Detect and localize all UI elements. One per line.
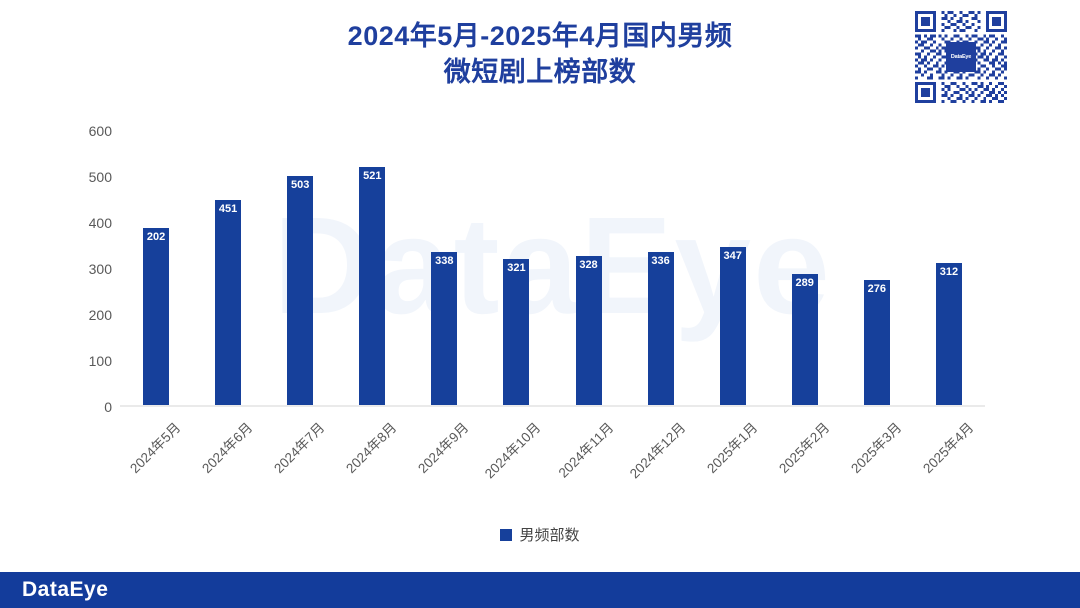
bar[interactable]: 289 bbox=[792, 274, 818, 407]
bar-slot: 328 bbox=[552, 131, 624, 407]
bar-slot: 321 bbox=[480, 131, 552, 407]
bar-slot: 338 bbox=[408, 131, 480, 407]
y-axis-tick: 0 bbox=[104, 399, 112, 415]
x-axis-label: 2024年12月 bbox=[624, 417, 689, 482]
bar[interactable]: 503 bbox=[287, 176, 313, 407]
y-axis-tick: 600 bbox=[89, 123, 112, 139]
bar[interactable]: 347 bbox=[720, 247, 746, 407]
bar-slot: 347 bbox=[697, 131, 769, 407]
x-axis-label: 2024年5月 bbox=[124, 417, 184, 477]
x-axis: 2024年5月2024年6月2024年7月2024年8月2024年9月2024年… bbox=[120, 411, 985, 511]
bar[interactable]: 521 bbox=[359, 167, 385, 407]
bar[interactable]: 202 bbox=[143, 228, 169, 407]
footer-bar: DataEye bbox=[0, 572, 1080, 608]
bar-value-label: 338 bbox=[435, 255, 453, 267]
legend-swatch bbox=[500, 529, 512, 541]
bar-slot: 336 bbox=[625, 131, 697, 407]
bar-value-label: 202 bbox=[147, 231, 165, 243]
x-axis-label: 2025年2月 bbox=[773, 417, 833, 477]
bar-slot: 202 bbox=[120, 131, 192, 407]
bar-slot: 503 bbox=[264, 131, 336, 407]
chart-title: 2024年5月-2025年4月国内男频 微短剧上榜部数 bbox=[170, 18, 910, 90]
y-axis-tick: 100 bbox=[89, 353, 112, 369]
bar-value-label: 328 bbox=[579, 259, 597, 271]
x-axis-label: 2024年10月 bbox=[479, 417, 544, 482]
bar-series: 202451503521338321328336347289276312 bbox=[120, 131, 985, 407]
bar[interactable]: 312 bbox=[936, 263, 962, 407]
y-axis-tick: 200 bbox=[89, 307, 112, 323]
bar[interactable]: 338 bbox=[431, 252, 457, 407]
bar[interactable]: 328 bbox=[576, 256, 602, 407]
plot-area: DataEye 20245150352133832132833634728927… bbox=[120, 131, 985, 407]
x-axis-baseline bbox=[120, 405, 985, 407]
qr-code[interactable]: DataEye bbox=[912, 8, 1010, 106]
bar-value-label: 503 bbox=[291, 179, 309, 191]
bar-slot: 521 bbox=[336, 131, 408, 407]
chart-legend: 男频部数 bbox=[0, 524, 1080, 545]
bar[interactable]: 336 bbox=[648, 252, 674, 407]
bar[interactable]: 321 bbox=[503, 259, 529, 407]
bar-value-label: 276 bbox=[868, 283, 886, 295]
bar-value-label: 336 bbox=[651, 255, 669, 267]
y-axis-tick: 300 bbox=[89, 261, 112, 277]
bar-value-label: 289 bbox=[796, 277, 814, 289]
bar[interactable]: 451 bbox=[215, 200, 241, 407]
y-axis: 0100200300400500600 bbox=[60, 124, 112, 414]
bar-slot: 451 bbox=[192, 131, 264, 407]
bar-value-label: 347 bbox=[723, 250, 741, 262]
bar-slot: 312 bbox=[913, 131, 985, 407]
y-axis-tick: 400 bbox=[89, 215, 112, 231]
x-axis-label: 2025年4月 bbox=[917, 417, 977, 477]
x-axis-label: 2024年6月 bbox=[196, 417, 256, 477]
x-axis-label: 2024年7月 bbox=[269, 417, 329, 477]
dataeye-logo: DataEye bbox=[22, 578, 108, 602]
bar[interactable]: 276 bbox=[864, 280, 890, 407]
x-axis-label: 2025年3月 bbox=[845, 417, 905, 477]
bar-slot: 289 bbox=[769, 131, 841, 407]
bar-value-label: 321 bbox=[507, 262, 525, 274]
qr-center-logo: DataEye bbox=[946, 42, 976, 72]
bar-value-label: 451 bbox=[219, 203, 237, 215]
y-axis-tick: 500 bbox=[89, 169, 112, 185]
legend-label[interactable]: 男频部数 bbox=[519, 524, 579, 545]
x-axis-label: 2025年1月 bbox=[701, 417, 761, 477]
bar-value-label: 312 bbox=[940, 266, 958, 278]
bar-slot: 276 bbox=[841, 131, 913, 407]
bar-value-label: 521 bbox=[363, 170, 381, 182]
x-axis-label: 2024年9月 bbox=[413, 417, 473, 477]
x-axis-label: 2024年8月 bbox=[341, 417, 401, 477]
x-axis-label: 2024年11月 bbox=[552, 417, 616, 481]
